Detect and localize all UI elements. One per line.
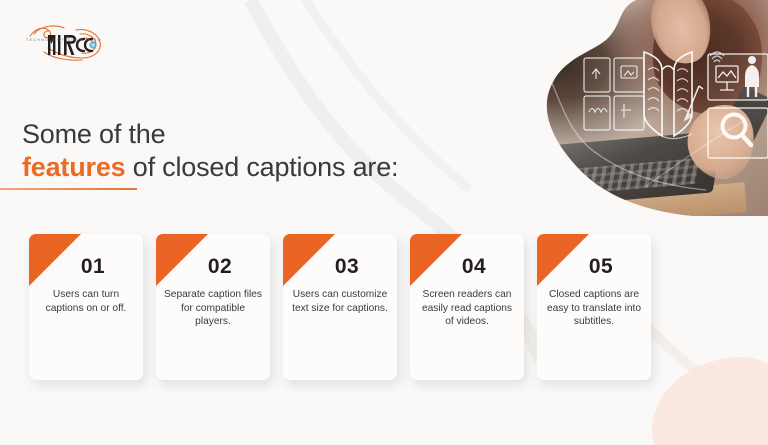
slide-canvas: TECHNOLOGY SIMPLIFIED Some of the featur… <box>0 0 768 445</box>
card-text: Users can customize text size for captio… <box>290 288 390 315</box>
card-text: Separate caption files for compatible pl… <box>163 288 263 329</box>
card-number: 02 <box>156 255 270 279</box>
headline-line-1: Some of the <box>22 119 165 149</box>
headline-line-2: features of closed captions are: <box>22 151 398 184</box>
card-number: 04 <box>410 255 524 279</box>
feature-card[interactable]: 02 Separate caption files for compatible… <box>156 234 270 380</box>
headline-line-2-rest: of closed captions are: <box>125 152 398 182</box>
hero-photo <box>496 0 768 216</box>
card-text: Closed captions are easy to translate in… <box>544 288 644 329</box>
brand-logo[interactable] <box>24 22 120 68</box>
headline-underline-rule <box>0 188 137 190</box>
feature-card[interactable]: 04 Screen readers can easily read captio… <box>410 234 524 380</box>
card-number: 05 <box>537 255 651 279</box>
feature-card[interactable]: 05 Closed captions are easy to translate… <box>537 234 651 380</box>
page-title: Some of the features of closed captions … <box>22 118 398 184</box>
card-number: 03 <box>283 255 397 279</box>
headline-emphasis: features <box>22 152 125 182</box>
chart-card-icon <box>584 96 610 130</box>
feature-card[interactable]: 01 Users can turn captions on or off. <box>29 234 143 380</box>
document-card-icon <box>584 58 610 92</box>
card-text: Screen readers can easily read captions … <box>417 288 517 329</box>
feature-card-list: 01 Users can turn captions on or off. 02… <box>29 234 651 380</box>
brand-tagline: TECHNOLOGY SIMPLIFIED <box>26 38 92 44</box>
card-text: Users can turn captions on or off. <box>36 288 136 315</box>
card-number: 01 <box>29 255 143 279</box>
feature-card[interactable]: 03 Users can customize text size for cap… <box>283 234 397 380</box>
document-card-icon <box>614 96 644 130</box>
corner-blob-decoration <box>652 357 768 445</box>
hero-image <box>496 0 768 216</box>
document-card-icon <box>614 58 644 92</box>
